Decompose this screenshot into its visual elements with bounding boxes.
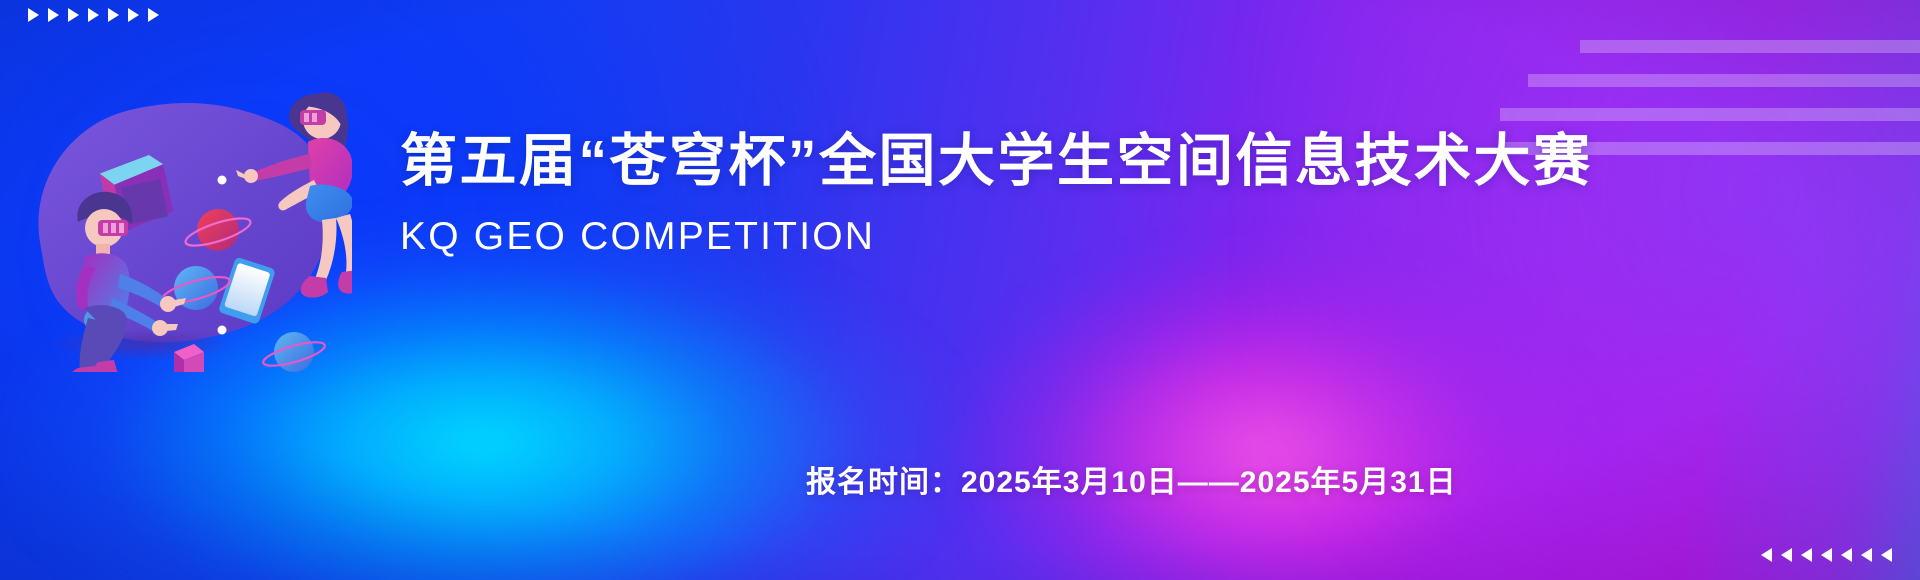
rocket: [223, 366, 330, 372]
triangle-left-icon: [1861, 548, 1872, 562]
triangle-left-icon: [1841, 548, 1852, 562]
triangle-left-icon: [1801, 548, 1812, 562]
triangle-right-icon: [88, 8, 99, 22]
triangle-right-icon: [128, 8, 139, 22]
triangle-left-icon: [1821, 548, 1832, 562]
triangle-right-icon: [148, 8, 159, 22]
triangle-left-icon: [1781, 548, 1792, 562]
blue-planet-right: [261, 332, 327, 372]
vr-space-exploration-illustration: [22, 62, 352, 372]
competition-banner: 第五届“苍穹杯”全国大学生空间信息技术大赛 KQ GEO COMPETITION…: [0, 0, 1920, 580]
triangle-right-icon: [48, 8, 59, 22]
page-title: 第五届“苍穹杯”全国大学生空间信息技术大赛: [400, 130, 1880, 194]
triangle-right-icon: [28, 8, 39, 22]
ground-shadow: [50, 328, 234, 360]
banner-text-block: 第五届“苍穹杯”全国大学生空间信息技术大赛 KQ GEO COMPETITION: [400, 130, 1880, 259]
triangle-right-icon: [68, 8, 79, 22]
star-dot: [218, 176, 227, 185]
top-left-arrow-strip: [28, 8, 159, 22]
registration-period-text: 报名时间：2025年3月10日——2025年5月31日: [806, 457, 1457, 501]
page-subtitle: KQ GEO COMPETITION: [400, 216, 1880, 259]
triangle-left-icon: [1761, 548, 1772, 562]
star-dot: [218, 326, 227, 335]
triangle-left-icon: [1881, 548, 1892, 562]
triangle-right-icon: [108, 8, 119, 22]
bottom-right-arrow-strip: [1761, 548, 1892, 562]
